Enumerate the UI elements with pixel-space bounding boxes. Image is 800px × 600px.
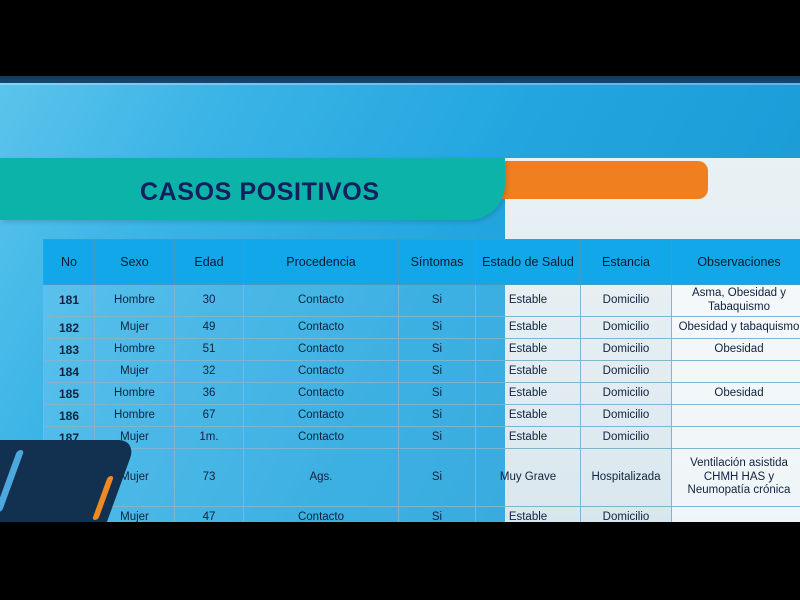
row-cell-observaciones: Asma, Obesidad y Tabaquismo	[672, 285, 800, 317]
row-cell-observaciones: Ventilación asistida CHMH HAS y Neumopat…	[672, 449, 800, 507]
row-cell-edad: 1m.	[175, 427, 244, 449]
table-head: No Sexo Edad Procedencia Síntomas Estado…	[44, 240, 800, 285]
row-cell-observaciones	[672, 405, 800, 427]
row-cell-no: 182	[44, 317, 95, 339]
row-cell-procedencia: Ags.	[244, 449, 399, 507]
row-cell-observaciones: Obesidad	[672, 383, 800, 405]
table-header-row: No Sexo Edad Procedencia Síntomas Estado…	[44, 240, 800, 285]
row-cell-sintomas: Si	[399, 317, 476, 339]
row-cell-sexo: Hombre	[95, 285, 175, 317]
row-cell-sexo: Mujer	[95, 361, 175, 383]
row-cell-procedencia: Contacto	[244, 405, 399, 427]
row-cell-estado: Estable	[476, 361, 581, 383]
row-cell-estado: Estable	[476, 339, 581, 361]
screenshot-root: CASOS POSITIVOS No Sexo Edad Procedencia…	[0, 0, 800, 600]
table-row: 182Mujer49ContactoSiEstableDomicilioObes…	[44, 317, 800, 339]
row-cell-procedencia: Contacto	[244, 427, 399, 449]
row-cell-edad: 49	[175, 317, 244, 339]
row-cell-observaciones	[672, 427, 800, 449]
row-cell-no: 184	[44, 361, 95, 383]
table-row: 189Mujer47ContactoSiEstableDomicilio	[44, 507, 800, 522]
row-cell-estado: Muy Grave	[476, 449, 581, 507]
column-header-sintomas: Síntomas	[399, 240, 476, 285]
row-cell-observaciones	[672, 507, 800, 522]
row-cell-edad: 30	[175, 285, 244, 317]
row-cell-no: 181	[44, 285, 95, 317]
row-cell-estancia: Domicilio	[581, 507, 672, 522]
row-cell-procedencia: Contacto	[244, 507, 399, 522]
cases-table: No Sexo Edad Procedencia Síntomas Estado…	[43, 239, 800, 522]
row-cell-sintomas: Si	[399, 507, 476, 522]
slide-top-rule-highlight	[0, 83, 800, 85]
table-row: 183Hombre51ContactoSiEstableDomicilioObe…	[44, 339, 800, 361]
row-cell-observaciones	[672, 361, 800, 383]
row-cell-sintomas: Si	[399, 449, 476, 507]
row-cell-estancia: Domicilio	[581, 427, 672, 449]
row-cell-observaciones: Obesidad	[672, 339, 800, 361]
table-row: 181Hombre30ContactoSiEstableDomicilioAsm…	[44, 285, 800, 317]
column-header-estancia: Estancia	[581, 240, 672, 285]
row-cell-sintomas: Si	[399, 427, 476, 449]
row-cell-no: 185	[44, 383, 95, 405]
row-cell-procedencia: Contacto	[244, 383, 399, 405]
row-cell-estancia: Domicilio	[581, 285, 672, 317]
row-cell-procedencia: Contacto	[244, 317, 399, 339]
column-header-observaciones: Observaciones	[672, 240, 800, 285]
row-cell-edad: 73	[175, 449, 244, 507]
row-cell-estado: Estable	[476, 383, 581, 405]
row-cell-procedencia: Contacto	[244, 339, 399, 361]
row-cell-procedencia: Contacto	[244, 285, 399, 317]
row-cell-estancia: Domicilio	[581, 405, 672, 427]
column-header-no: No	[44, 240, 95, 285]
row-cell-sintomas: Si	[399, 285, 476, 317]
table-row: 185Hombre36ContactoSiEstableDomicilioObe…	[44, 383, 800, 405]
row-cell-estancia: Hospitalizada	[581, 449, 672, 507]
row-cell-sexo: Hombre	[95, 405, 175, 427]
row-cell-sexo: Hombre	[95, 339, 175, 361]
row-cell-edad: 32	[175, 361, 244, 383]
row-cell-observaciones: Obesidad y tabaquismo	[672, 317, 800, 339]
slide-top-rule	[0, 76, 800, 83]
row-cell-estado: Estable	[476, 427, 581, 449]
row-cell-edad: 36	[175, 383, 244, 405]
row-cell-estado: Estable	[476, 405, 581, 427]
row-cell-sexo: Hombre	[95, 383, 175, 405]
row-cell-sintomas: Si	[399, 361, 476, 383]
row-cell-sintomas: Si	[399, 383, 476, 405]
row-cell-procedencia: Contacto	[244, 361, 399, 383]
row-cell-edad: 51	[175, 339, 244, 361]
column-header-sexo: Sexo	[95, 240, 175, 285]
row-cell-sintomas: Si	[399, 339, 476, 361]
cases-table-container: No Sexo Edad Procedencia Síntomas Estado…	[43, 239, 750, 522]
column-header-estado-salud: Estado de Salud	[476, 240, 581, 285]
table-row: 184Mujer32ContactoSiEstableDomicilio	[44, 361, 800, 383]
row-cell-estancia: Domicilio	[581, 339, 672, 361]
row-cell-sexo: Mujer	[95, 317, 175, 339]
title-block: CASOS POSITIVOS	[0, 158, 505, 220]
row-cell-no: 186	[44, 405, 95, 427]
column-header-edad: Edad	[175, 240, 244, 285]
table-row: 186Hombre67ContactoSiEstableDomicilio	[44, 405, 800, 427]
row-cell-no: 183	[44, 339, 95, 361]
table-row: 187Mujer1m.ContactoSiEstableDomicilio	[44, 427, 800, 449]
row-cell-sintomas: Si	[399, 405, 476, 427]
column-header-procedencia: Procedencia	[244, 240, 399, 285]
presentation-slide: CASOS POSITIVOS No Sexo Edad Procedencia…	[0, 76, 800, 522]
page-title: CASOS POSITIVOS	[140, 178, 380, 207]
row-cell-estado: Estable	[476, 317, 581, 339]
table-body: 181Hombre30ContactoSiEstableDomicilioAsm…	[44, 285, 800, 523]
row-cell-estancia: Domicilio	[581, 383, 672, 405]
table-row: 188Mujer73Ags.SiMuy GraveHospitalizadaVe…	[44, 449, 800, 507]
row-cell-estancia: Domicilio	[581, 361, 672, 383]
row-cell-estado: Estable	[476, 507, 581, 522]
row-cell-estancia: Domicilio	[581, 317, 672, 339]
row-cell-edad: 47	[175, 507, 244, 522]
row-cell-edad: 67	[175, 405, 244, 427]
row-cell-estado: Estable	[476, 285, 581, 317]
